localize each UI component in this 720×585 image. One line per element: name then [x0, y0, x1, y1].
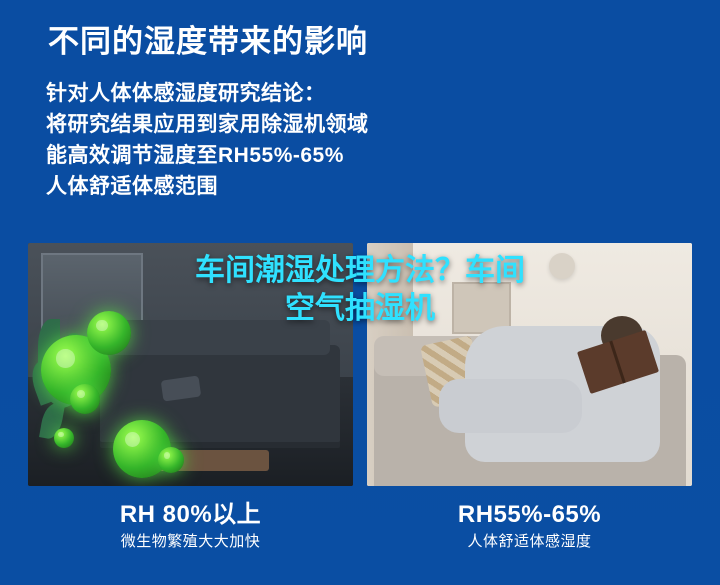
body-text-block: 针对人体体感湿度研究结论： 将研究结果应用到家用除湿机领域 能高效调节湿度至RH… [46, 78, 369, 202]
poster-root: 不同的湿度带来的影响 针对人体体感湿度研究结论： 将研究结果应用到家用除湿机领域… [0, 0, 720, 585]
caption-right-subtitle: 人体舒适体感湿度 [367, 530, 692, 554]
right-photo-legs [439, 379, 582, 432]
right-photo-lamp [549, 253, 575, 279]
body-line-1: 针对人体体感湿度研究结论： [46, 78, 369, 109]
caption-right-title: RH55%-65% [367, 500, 692, 530]
caption-left-title: RH 80%以上 [28, 500, 353, 530]
photo-row [28, 243, 692, 486]
microbe-icon [87, 311, 131, 355]
caption-left-subtitle: 微生物繁殖大大加快 [28, 530, 353, 554]
body-line-4: 人体舒适体感范围 [46, 171, 369, 202]
photo-damp-room [28, 243, 353, 486]
microbe-icon [70, 384, 100, 414]
body-line-2: 将研究结果应用到家用除湿机领域 [46, 109, 369, 140]
left-photo-cushion [161, 376, 202, 403]
caption-right: RH55%-65% 人体舒适体感湿度 [367, 500, 692, 570]
photo-comfortable-room [367, 243, 692, 486]
page-title: 不同的湿度带来的影响 [48, 16, 368, 61]
body-line-3: 能高效调节湿度至RH55%-65% [46, 140, 369, 171]
microbe-icon [54, 428, 74, 448]
microbe-icon [158, 447, 184, 473]
caption-left: RH 80%以上 微生物繁殖大大加快 [28, 500, 353, 570]
caption-row: RH 80%以上 微生物繁殖大大加快 RH55%-65% 人体舒适体感湿度 [28, 500, 692, 570]
